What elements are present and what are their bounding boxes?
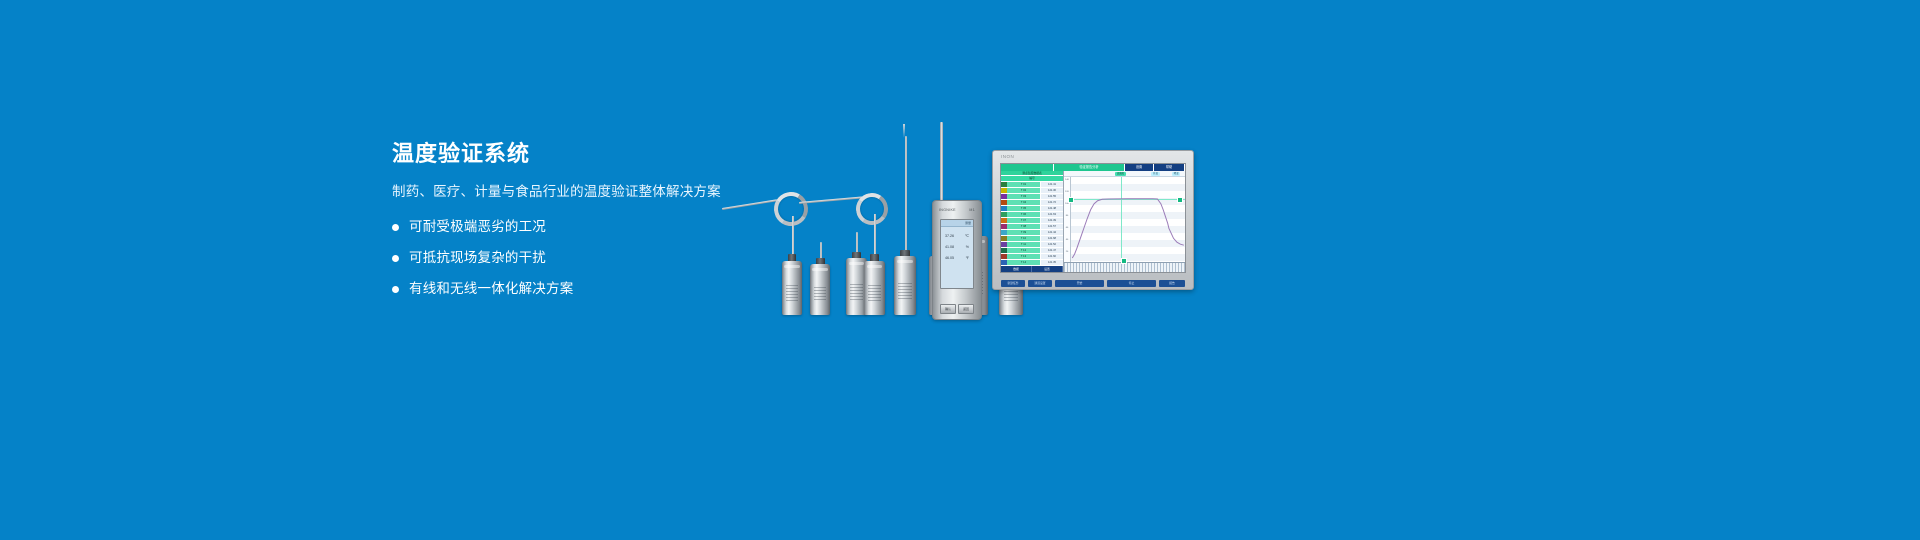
channel-table-panel: 测点温度数据表 编号 T 01 121.41 T 02 121. bbox=[1001, 171, 1064, 272]
coil-probe-drop-wire-1 bbox=[792, 216, 794, 258]
handheld-reading-value: 37.26 bbox=[945, 234, 954, 238]
hero-banner: 温度验证系统 制药、医疗、计量与食品行业的温度验证整体解决方案 可耐受极端恶劣的… bbox=[0, 0, 1920, 540]
tab-settings[interactable]: 设置 bbox=[1125, 164, 1154, 171]
chart-chip-heating[interactable]: 升温 bbox=[1151, 172, 1160, 176]
channel-name: T 01 bbox=[1007, 182, 1040, 187]
handheld-reading-row: 41.08 % bbox=[941, 245, 973, 249]
bullet-dot-icon bbox=[392, 286, 399, 293]
logger-label bbox=[814, 287, 826, 302]
channel-value: 121.41 bbox=[1040, 182, 1063, 187]
handheld-reading-row: 37.26 ℃ bbox=[941, 234, 973, 238]
feature-label: 可耐受极端恶劣的工况 bbox=[409, 218, 546, 236]
channel-value: 121.55 bbox=[1040, 194, 1063, 199]
chart-chip-cooling[interactable]: 降温 bbox=[1172, 172, 1181, 176]
channel-value: 121.72 bbox=[1040, 200, 1063, 205]
channel-name: T 08 bbox=[1007, 224, 1040, 229]
channel-value: 121.36 bbox=[1040, 188, 1063, 193]
channel-value: 121.52 bbox=[1040, 242, 1063, 247]
channel-value: 121.57 bbox=[1040, 224, 1063, 229]
coil-probe-stem-2 bbox=[799, 196, 863, 204]
channel-name: T 14 bbox=[1007, 260, 1040, 265]
channel-name: T 04 bbox=[1007, 200, 1040, 205]
logger-label bbox=[786, 285, 798, 301]
channel-name: T 12 bbox=[1007, 248, 1040, 253]
app-titlebar: 验证报告分析 设置 帮助 bbox=[1001, 164, 1185, 171]
channel-name: T 05 bbox=[1007, 206, 1040, 211]
bullet-dot-icon bbox=[392, 224, 399, 231]
coil-probe-drop-wire-2 bbox=[874, 214, 876, 258]
needle-tip-icon bbox=[903, 124, 905, 138]
feature-label: 有线和无线一体化解决方案 bbox=[409, 280, 573, 298]
chart-chip-sterilization[interactable]: 灭菌段 bbox=[1115, 172, 1126, 176]
handheld-reading-value: 46.05 bbox=[945, 256, 954, 260]
channel-value: 121.63 bbox=[1040, 212, 1063, 217]
handheld-confirm-button[interactable]: 确认 bbox=[940, 304, 956, 314]
handheld-reading-unit: % bbox=[966, 245, 969, 249]
temperature-curve bbox=[1070, 177, 1185, 262]
channel-table-footer: 数据 设置 bbox=[1001, 266, 1063, 272]
logger-body-2 bbox=[810, 264, 830, 315]
handheld-keypad: 确认 返回 bbox=[940, 304, 974, 314]
handheld-reading-unit: ℃ bbox=[965, 234, 969, 238]
handheld-screen: 测量 37.26 ℃ 41.08 % 46.05 ℉ bbox=[940, 219, 974, 289]
channel-value: 121.39 bbox=[1040, 218, 1063, 223]
product-image-group: INGNIKE M1 测量 37.26 ℃ 41.08 % 46.05 ℉ bbox=[700, 120, 1220, 320]
monitor-button-report[interactable]: 报告 bbox=[1159, 280, 1185, 287]
monitor-button-channel-setup[interactable]: 通道设置 bbox=[1028, 280, 1052, 287]
software-screen: 验证报告分析 设置 帮助 测点温度数据表 编号 T 01 121.41 bbox=[1000, 163, 1186, 273]
logger-body-4 bbox=[864, 261, 885, 315]
handheld-titlebar: 测量 bbox=[941, 220, 973, 227]
monitor-button-start[interactable]: 开始 bbox=[1055, 280, 1104, 287]
handheld-reading-value: 41.08 bbox=[945, 245, 954, 249]
chart-bottom-handle[interactable] bbox=[1121, 258, 1127, 264]
coil-probe-loop-1 bbox=[770, 188, 811, 229]
validation-software-monitor: INON 验证报告分析 设置 帮助 测点温度数据表 编号 bbox=[992, 150, 1194, 290]
bullet-dot-icon bbox=[392, 255, 399, 262]
channel-value: 121.48 bbox=[1040, 206, 1063, 211]
channel-value: 121.35 bbox=[1040, 260, 1063, 265]
logger-label bbox=[868, 285, 881, 301]
logger-label bbox=[898, 283, 911, 301]
monitor-button-new-task[interactable]: 新建任务 bbox=[1001, 280, 1025, 287]
logger-label bbox=[850, 284, 863, 301]
channel-value: 121.47 bbox=[1040, 248, 1063, 253]
tab-blank[interactable] bbox=[1001, 164, 1054, 171]
channel-name: T 13 bbox=[1007, 254, 1040, 259]
chart-plot-area[interactable]: 140 120 100 80 60 40 20 bbox=[1064, 177, 1185, 262]
logger-body-1 bbox=[782, 261, 802, 315]
logger-body-5 bbox=[894, 256, 916, 315]
monitor-button-stop[interactable]: 停止 bbox=[1107, 280, 1156, 287]
handheld-reader-m1[interactable]: INGNIKE M1 测量 37.26 ℃ 41.08 % 46.05 ℉ bbox=[932, 200, 982, 320]
feature-label: 可抵抗现场复杂的干扰 bbox=[409, 249, 546, 267]
tab-help[interactable]: 帮助 bbox=[1154, 164, 1185, 171]
grid-settings-button[interactable]: 设置 bbox=[1032, 266, 1063, 272]
handheld-back-button[interactable]: 返回 bbox=[958, 304, 974, 314]
channel-name: T 06 bbox=[1007, 212, 1040, 217]
handheld-brand-row: INGNIKE M1 bbox=[939, 208, 975, 212]
channel-name: T 09 bbox=[1007, 230, 1040, 235]
needle-probe-5 bbox=[905, 136, 907, 252]
handheld-reading-unit: ℉ bbox=[966, 256, 969, 260]
handheld-model-label: M1 bbox=[969, 208, 975, 212]
channel-name: T 02 bbox=[1007, 188, 1040, 193]
channel-value: 121.68 bbox=[1040, 236, 1063, 241]
handheld-titlebar-label: 测量 bbox=[965, 221, 971, 225]
channel-value: 121.44 bbox=[1040, 230, 1063, 235]
temperature-chart-panel: 灭菌段 升温 降温 140 120 100 80 60 40 bbox=[1064, 171, 1185, 272]
handheld-reading-row: 46.05 ℉ bbox=[941, 256, 973, 260]
tab-report-analysis[interactable]: 验证报告分析 bbox=[1054, 164, 1125, 171]
channel-value: 121.60 bbox=[1040, 254, 1063, 259]
channel-name: T 11 bbox=[1007, 242, 1040, 247]
monitor-brand-label: INON bbox=[1001, 154, 1014, 159]
channel-name: T 07 bbox=[1007, 218, 1040, 223]
coil-probe-stem-1 bbox=[722, 199, 778, 210]
grid-data-button[interactable]: 数据 bbox=[1001, 266, 1032, 272]
channel-name: T 03 bbox=[1007, 194, 1040, 199]
app-body: 测点温度数据表 编号 T 01 121.41 T 02 121. bbox=[1001, 171, 1185, 272]
handheld-brand-label: INGNIKE bbox=[939, 208, 956, 212]
monitor-bezel-buttons: 新建任务 通道设置 开始 停止 报告 bbox=[1001, 280, 1185, 287]
channel-name: T 10 bbox=[1007, 236, 1040, 241]
channel-table-rows[interactable]: T 01 121.41 T 02 121.36 T 03 bbox=[1001, 182, 1063, 266]
